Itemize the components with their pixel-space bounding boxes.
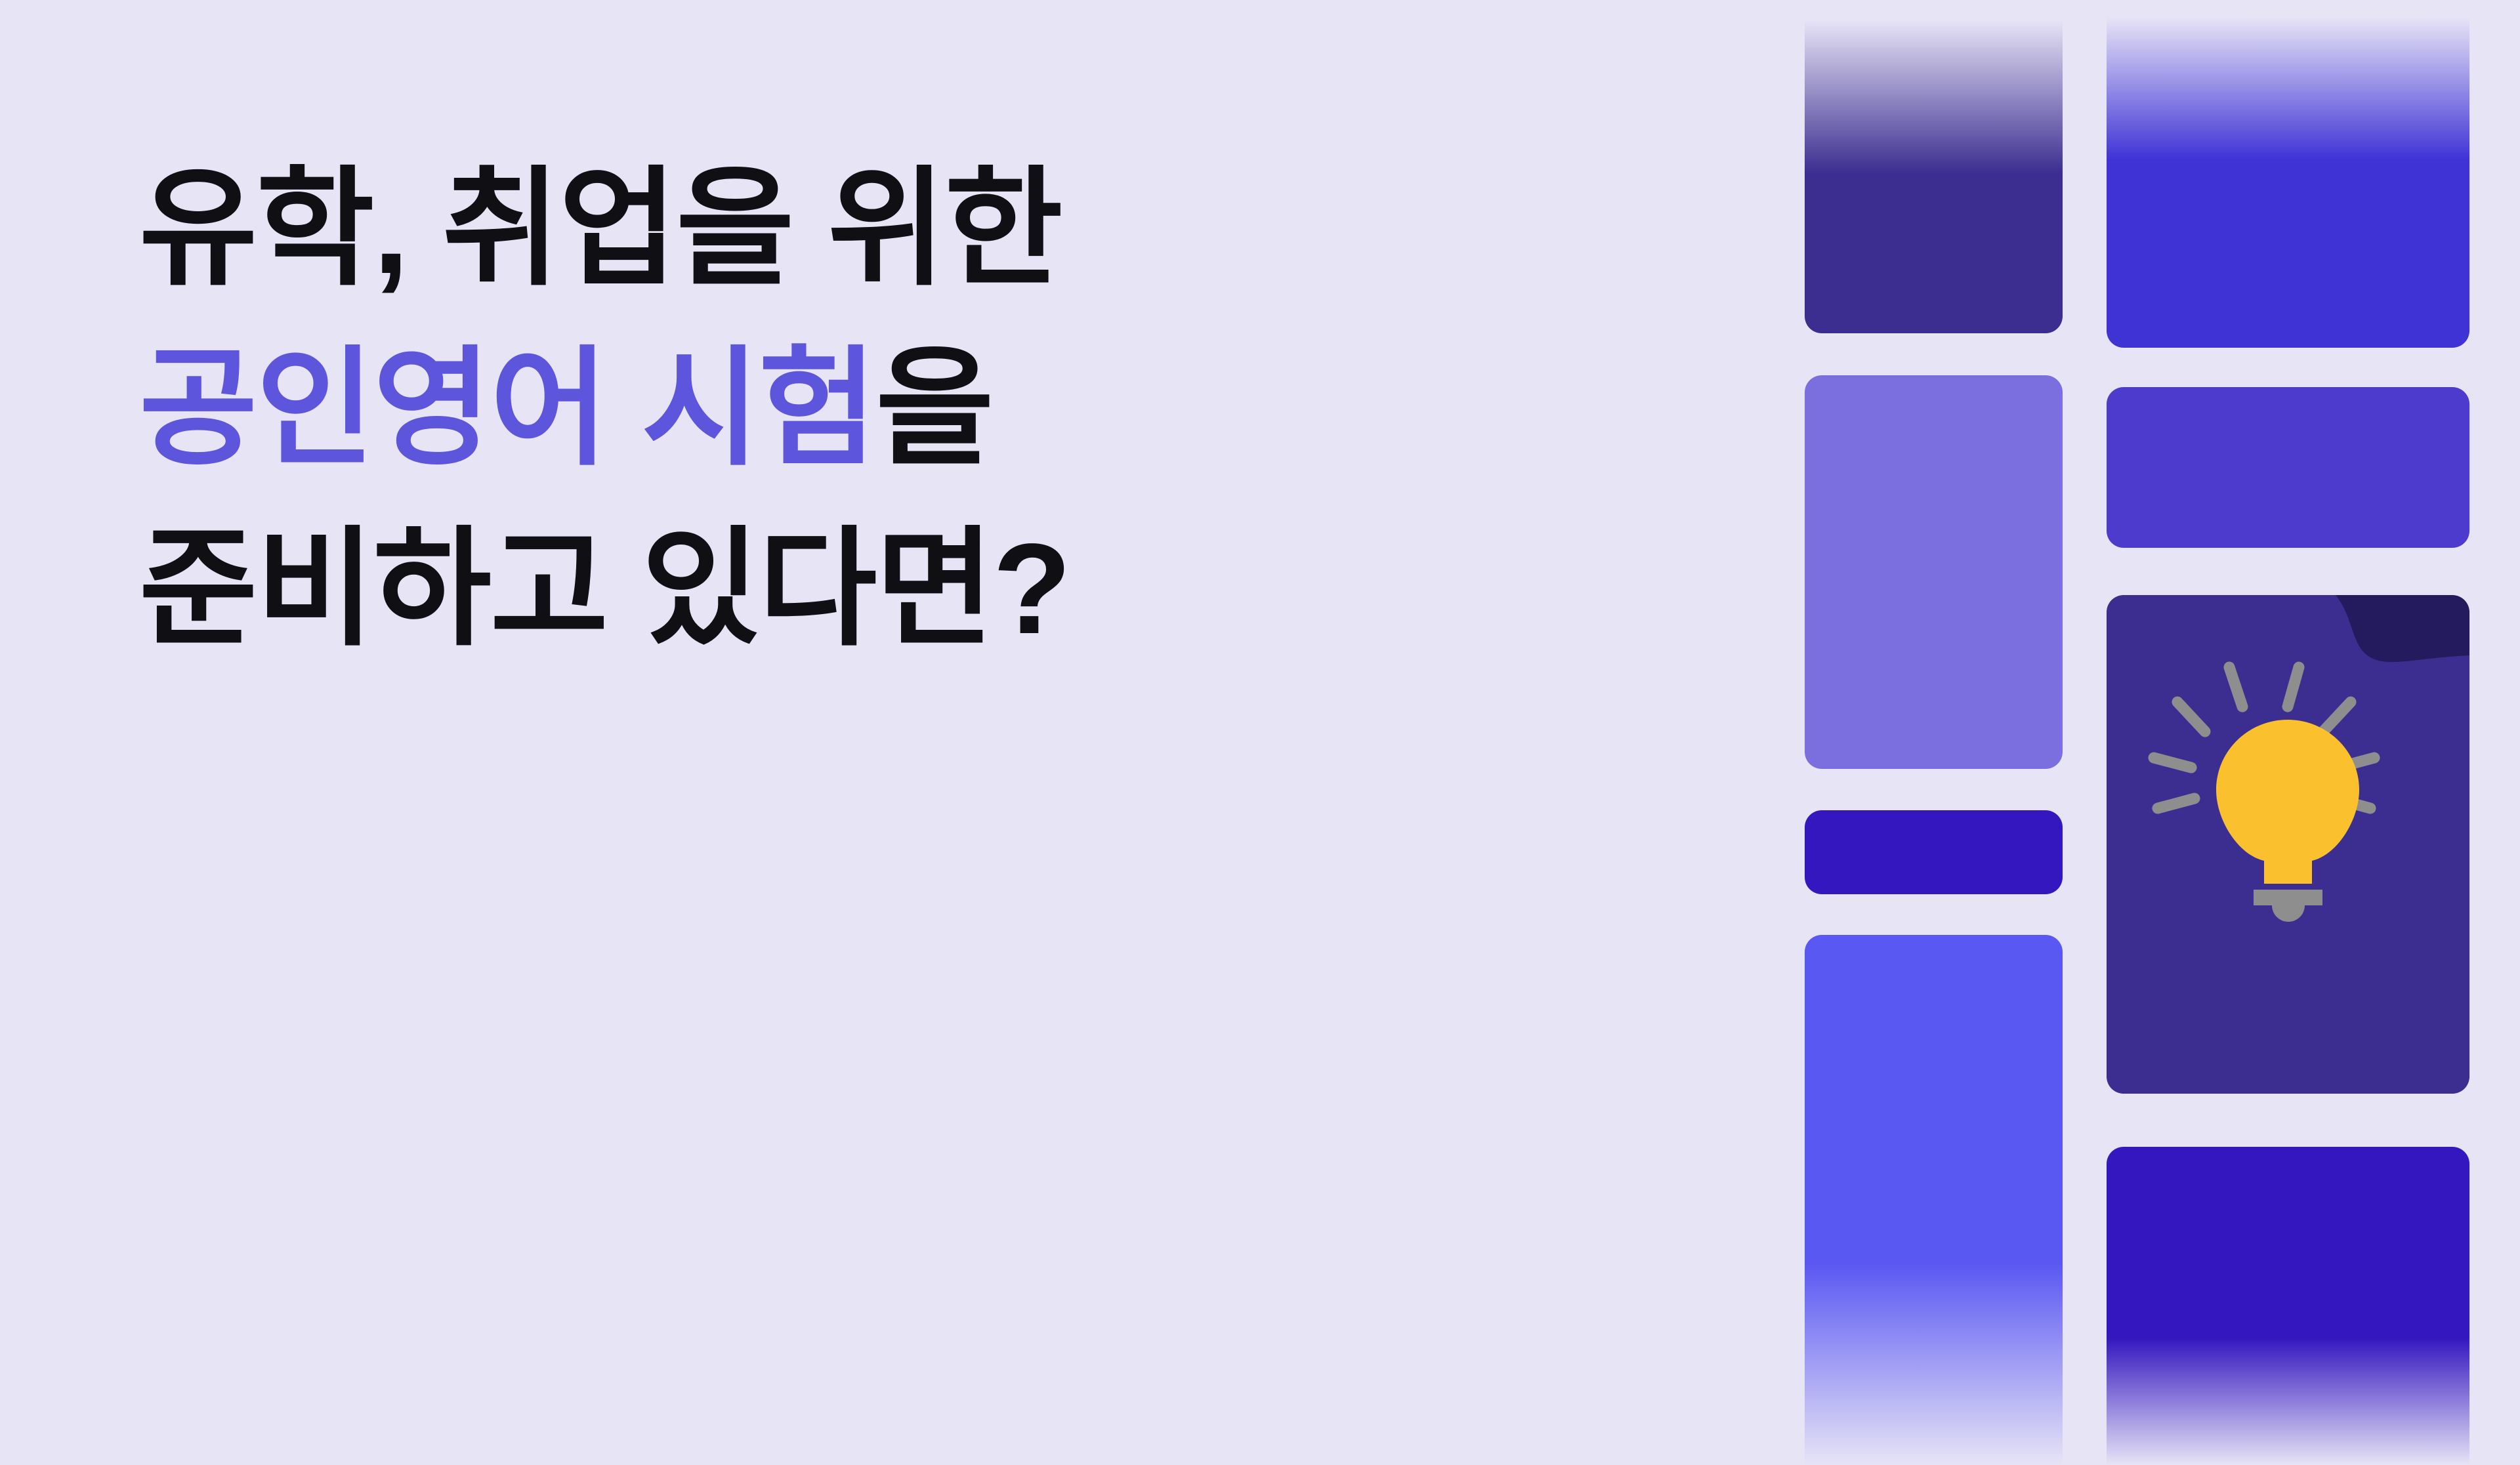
block-dark-indigo-fade-top — [1805, 0, 2063, 333]
block-deep-violet-bar — [1805, 810, 2063, 894]
block-violet-small — [2107, 387, 2469, 548]
block-royal-blue-fade-top — [2107, 0, 2469, 348]
headline-block: 유학, 취업을 위한 공인영어 시험을 준비하고 있다면? — [139, 139, 1648, 679]
headline-line-2: 공인영어 시험을 — [139, 319, 1648, 499]
headline-accent-text: 공인영어 시험 — [139, 337, 875, 480]
headline-line-2-suffix: 을 — [875, 337, 992, 480]
card-lightbulb — [2107, 595, 2469, 1094]
decorative-block-mosaic — [1805, 0, 2469, 1465]
block-bright-indigo-fade-bottom — [1805, 935, 2063, 1465]
block-light-periwinkle — [1805, 375, 2063, 769]
headline-line-1: 유학, 취업을 위한 — [139, 139, 1648, 319]
slide-canvas: 유학, 취업을 위한 공인영어 시험을 준비하고 있다면? — [0, 0, 2520, 1465]
block-deep-violet-fade-bottom — [2107, 1147, 2469, 1465]
bulb-base-bar-icon — [2254, 890, 2322, 905]
headline-line-3: 준비하고 있다면? — [139, 499, 1648, 679]
